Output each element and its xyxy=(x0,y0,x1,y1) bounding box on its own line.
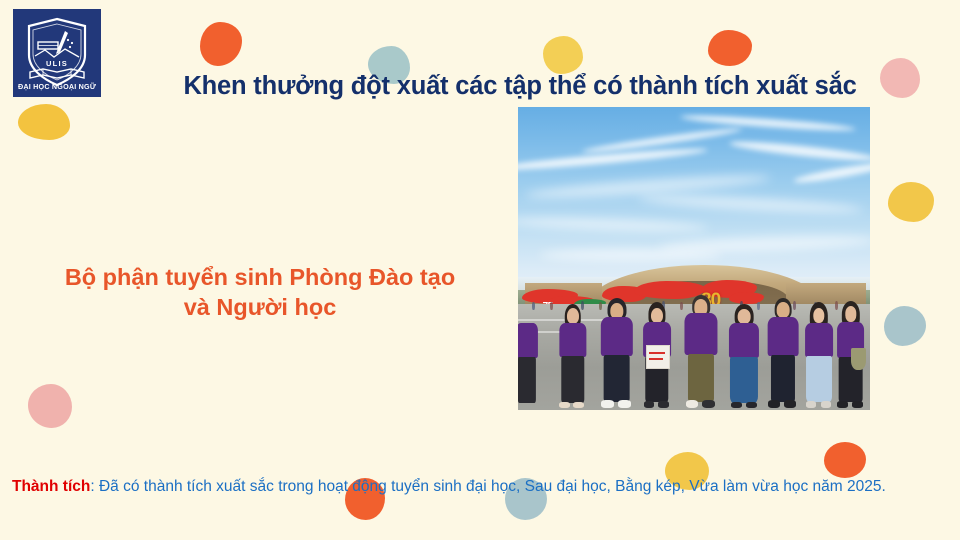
page-title: Khen thưởng đột xuất các tập thể có thàn… xyxy=(120,72,920,100)
olive-handbag xyxy=(851,348,866,370)
photo-person xyxy=(835,301,867,410)
honored-unit-line-2: và Người học xyxy=(20,292,500,322)
photo-person xyxy=(518,307,539,410)
blob-orange-top-1 xyxy=(200,22,242,66)
photo-person xyxy=(766,298,799,410)
group-photo: 80 75 xyxy=(518,107,870,410)
photo-person xyxy=(803,302,835,410)
photo-person xyxy=(599,298,634,410)
blob-yellow-right-1 xyxy=(888,182,934,222)
slide-canvas: ULIS ĐẠI HỌC NGOẠI NGỮ Khen thưởng đột x… xyxy=(0,0,960,540)
photo-person xyxy=(557,304,589,410)
photo-person xyxy=(727,304,760,410)
photo-person xyxy=(641,302,673,410)
achievement-caption-separator: : xyxy=(90,478,94,495)
white-tote-bag xyxy=(646,345,671,369)
blob-yellow-topleft xyxy=(18,104,70,140)
ulis-logo: ULIS ĐẠI HỌC NGOẠI NGỮ xyxy=(13,9,101,97)
honored-unit-line-1: Bộ phận tuyển sinh Phòng Đào tạo xyxy=(20,262,500,292)
ulis-logo-caption: ĐẠI HỌC NGOẠI NGỮ xyxy=(18,82,96,91)
ulis-shield-text: ULIS xyxy=(46,59,68,68)
blob-yellow-top-2 xyxy=(543,36,583,74)
blob-pink-left-1 xyxy=(28,384,72,428)
achievement-caption-body: Đã có thành tích xuất sắc trong hoạt độn… xyxy=(99,478,886,495)
photo-person xyxy=(683,295,718,410)
achievement-caption-label: Thành tích xyxy=(12,478,90,495)
blob-orange-bottom-right xyxy=(824,442,866,478)
ulis-logo-mark: ULIS ĐẠI HỌC NGOẠI NGỮ xyxy=(13,9,101,97)
achievement-caption: Thành tích: Đã có thành tích xuất sắc tr… xyxy=(12,476,952,498)
distant-person xyxy=(550,302,553,310)
blob-teal-right-1 xyxy=(884,306,926,346)
honored-unit-name: Bộ phận tuyển sinh Phòng Đào tạo và Ngườ… xyxy=(20,262,500,322)
blob-orange-top-2 xyxy=(708,30,752,66)
